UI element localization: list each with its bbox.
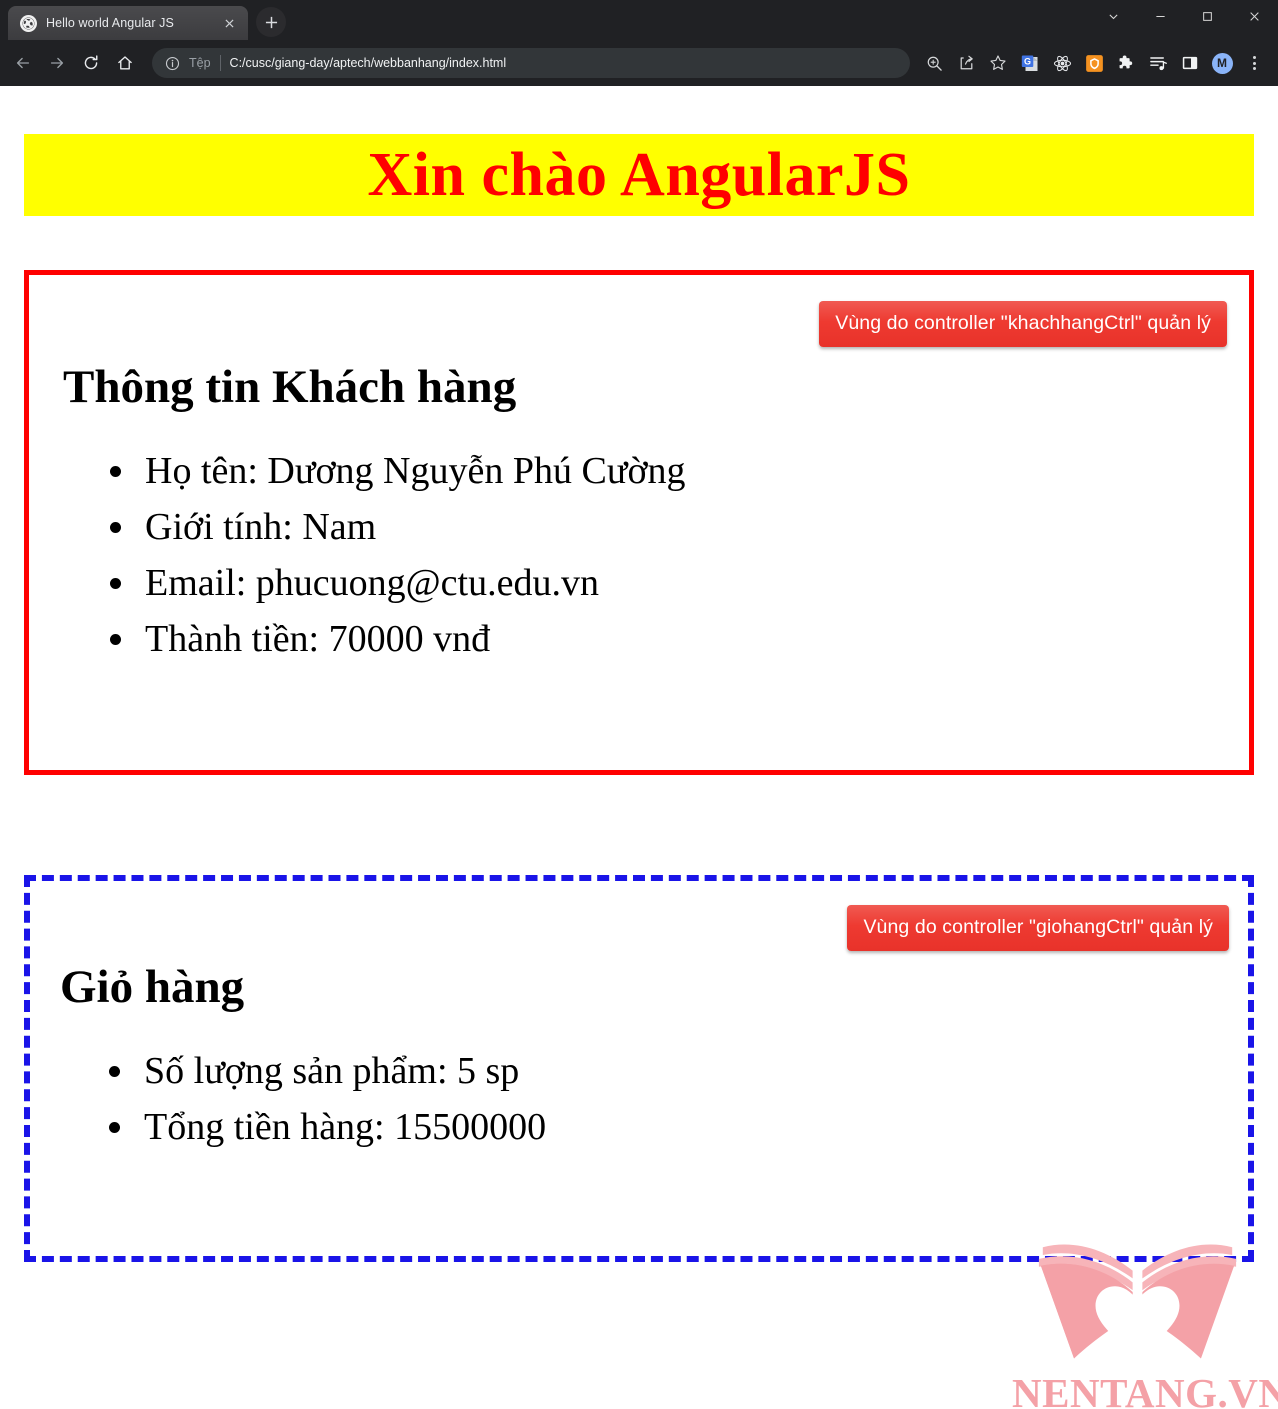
page-body: Xin chào AngularJS Vùng do controller "k… [0,134,1278,1409]
customer-controller-badge: Vùng do controller "khachhangCtrl" quản … [819,301,1227,347]
reading-list-icon[interactable] [1142,47,1174,79]
customer-heading: Thông tin Khách hàng [63,363,1249,412]
zoom-icon[interactable] [918,47,950,79]
window-controls [1090,0,1278,32]
svg-text:G: G [1024,56,1031,66]
close-icon[interactable] [1231,0,1278,32]
browser-window: Hello world Angular JS [0,0,1278,1409]
customer-info-list: Họ tên: Dương Nguyễn Phú Cường Giới tính… [139,444,1249,667]
customer-panel: Vùng do controller "khachhangCtrl" quản … [24,270,1254,775]
kebab-menu-icon[interactable] [1238,47,1270,79]
cart-info-list: Số lượng sản phẩm: 5 sp Tổng tiền hàng: … [138,1044,1248,1156]
info-circle-icon[interactable] [165,56,180,71]
avatar[interactable]: M [1206,47,1238,79]
share-icon[interactable] [950,47,982,79]
cart-panel: Vùng do controller "giohangCtrl" quản lý… [24,875,1254,1262]
watermark-name: NENTANG.VN [1012,1373,1262,1409]
bookmark-star-icon[interactable] [982,47,1014,79]
maximize-icon[interactable] [1184,0,1231,32]
close-icon[interactable] [220,14,238,32]
reload-icon[interactable] [74,46,108,80]
profile-initial: M [1212,53,1233,74]
address-bar[interactable]: Tệp C:/cusc/giang-day/aptech/webbanhang/… [152,48,910,78]
list-item: Số lượng sản phẩm: 5 sp [138,1044,1248,1100]
list-item: Thành tiền: 70000 vnđ [139,612,1249,668]
omnibox-divider [220,55,221,71]
arrow-back-icon[interactable] [6,46,40,80]
tab-search-chevron-down-icon[interactable] [1090,0,1137,32]
minimize-icon[interactable] [1137,0,1184,32]
page-title: Xin chào AngularJS [367,144,910,206]
list-item: Tổng tiền hàng: 15500000 [138,1100,1248,1156]
list-item: Email: phucuong@ctu.edu.vn [139,556,1249,612]
browser-toolbar: Tệp C:/cusc/giang-day/aptech/webbanhang/… [0,40,1278,86]
tab-strip: Hello world Angular JS [0,0,286,40]
browser-titlebar: Hello world Angular JS [0,0,1278,40]
toolbar-icon-group: G [918,47,1270,79]
kebab-dots [1253,56,1256,70]
tab-title: Hello world Angular JS [46,16,211,30]
page-viewport: Xin chào AngularJS Vùng do controller "k… [0,86,1278,1409]
cart-heading: Giỏ hàng [60,963,1248,1012]
extensions-puzzle-icon[interactable] [1110,47,1142,79]
arrow-forward-icon[interactable] [40,46,74,80]
cart-controller-badge: Vùng do controller "giohangCtrl" quản lý [847,905,1229,951]
browser-tab[interactable]: Hello world Angular JS [8,6,248,40]
react-devtools-extension-icon[interactable] [1046,47,1078,79]
list-item: Họ tên: Dương Nguyễn Phú Cường [139,444,1249,500]
home-icon[interactable] [108,46,142,80]
side-panel-icon[interactable] [1174,47,1206,79]
page-banner: Xin chào AngularJS [24,134,1254,216]
google-docs-extension-icon[interactable]: G [1014,47,1046,79]
globe-icon [20,15,37,32]
url-scheme-label: Tệp [189,56,211,70]
new-tab-button[interactable] [256,7,286,37]
shield-extension-icon[interactable] [1078,47,1110,79]
list-item: Giới tính: Nam [139,500,1249,556]
url-text[interactable]: C:/cusc/giang-day/aptech/webbanhang/inde… [230,56,898,70]
